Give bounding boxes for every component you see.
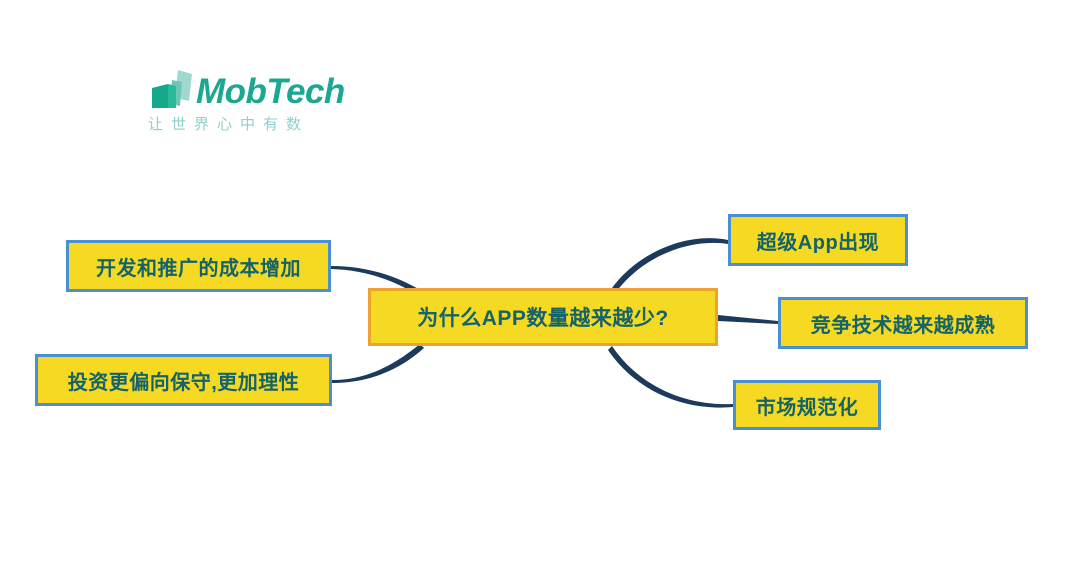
connector-investment-to-central [332,344,424,383]
mindmap-central-node[interactable]: 为什么APP数量越来越少? [368,288,718,346]
mindmap-branch-competition-label: 竞争技术越来越成熟 [811,309,996,338]
mindmap-diagram: 为什么APP数量越来越少? 开发和推广的成本增加 投资更偏向保守,更加理性 超级… [0,0,1080,577]
connector-central-to-market-norm [608,346,733,408]
mindmap-branch-cost[interactable]: 开发和推广的成本增加 [66,240,331,292]
mindmap-central-node-label: 为什么APP数量越来越少? [417,302,669,332]
connector-central-to-competition [718,315,778,324]
mindmap-branch-investment[interactable]: 投资更偏向保守,更加理性 [35,354,332,406]
mindmap-branch-market-norm[interactable]: 市场规范化 [733,380,881,430]
connector-central-to-super-app [612,238,728,292]
mindmap-branch-super-app[interactable]: 超级App出现 [728,214,908,266]
mindmap-branch-investment-label: 投资更偏向保守,更加理性 [68,366,300,395]
mindmap-branch-super-app-label: 超级App出现 [757,226,879,255]
mindmap-branch-competition[interactable]: 竞争技术越来越成熟 [778,297,1028,349]
mindmap-branch-cost-label: 开发和推广的成本增加 [96,252,301,281]
mindmap-branch-market-norm-label: 市场规范化 [756,391,859,420]
